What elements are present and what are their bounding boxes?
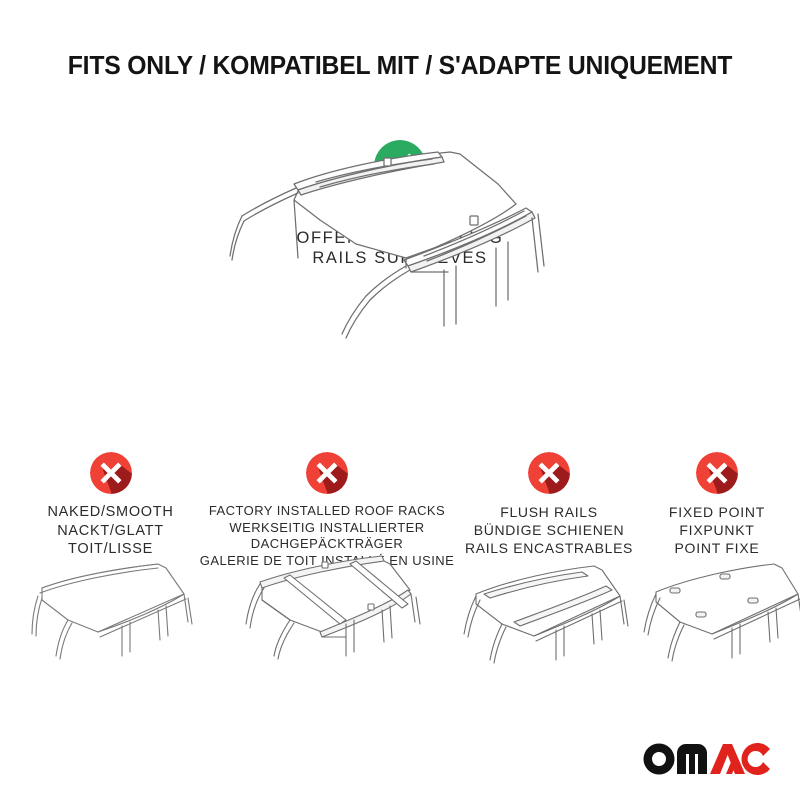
incompatible-label-de: NACKT/GLATT	[8, 522, 213, 541]
incompatible-labels: NAKED/SMOOTH NACKT/GLATT TOIT/LISSE	[8, 503, 213, 559]
incompatible-section: NAKED/SMOOTH NACKT/GLATT TOIT/LISSE FACT…	[0, 452, 800, 712]
cross-circle-icon	[90, 452, 132, 494]
incompatible-label-fr: POINT FIXE	[636, 539, 798, 557]
cross-circle-icon	[696, 452, 738, 494]
incompatible-label-de: FIXPUNKT	[636, 521, 798, 539]
page-title: FITS ONLY / KOMPATIBEL MIT / S'ADAPTE UN…	[12, 52, 788, 81]
incompatible-labels: FLUSH RAILS BÜNDIGE SCHIENEN RAILS ENCAS…	[453, 503, 645, 557]
incompatible-label-de-1: WERKSEITIG INSTALLIERTER	[196, 520, 458, 537]
car-roof-with-flush-rails-illustration	[440, 560, 640, 682]
product-compatibility-infographic: FITS ONLY / KOMPATIBEL MIT / S'ADAPTE UN…	[0, 0, 800, 800]
incompatible-label-en: FACTORY INSTALLED ROOF RACKS	[196, 503, 458, 520]
car-roof-with-factory-crossbars-illustration	[222, 552, 440, 682]
incompatible-item-flush-rails: FLUSH RAILS BÜNDIGE SCHIENEN RAILS ENCAS…	[453, 452, 645, 557]
incompatible-item-naked-smooth: NAKED/SMOOTH NACKT/GLATT TOIT/LISSE	[8, 452, 213, 559]
car-roof-with-raised-rails-illustration	[198, 148, 628, 343]
incompatible-label-de-2: DACHGEPÄCKTRÄGER	[196, 536, 458, 553]
cross-circle-icon	[306, 452, 348, 494]
car-roof-fixed-point-illustration	[628, 560, 800, 682]
incompatible-item-fixed-point: FIXED POINT FIXPUNKT POINT FIXE	[636, 452, 798, 557]
incompatible-label-en: FIXED POINT	[636, 503, 798, 521]
incompatible-label-fr: RAILS ENCASTRABLES	[453, 539, 645, 557]
omac-logo	[642, 738, 772, 778]
incompatible-label-en: FLUSH RAILS	[453, 503, 645, 521]
incompatible-label-de: BÜNDIGE SCHIENEN	[453, 521, 645, 539]
incompatible-labels: FIXED POINT FIXPUNKT POINT FIXE	[636, 503, 798, 557]
car-roof-naked-smooth-illustration	[12, 560, 202, 680]
incompatible-label-fr: TOIT/LISSE	[8, 540, 213, 559]
incompatible-label-en: NAKED/SMOOTH	[8, 503, 213, 522]
cross-circle-icon	[528, 452, 570, 494]
